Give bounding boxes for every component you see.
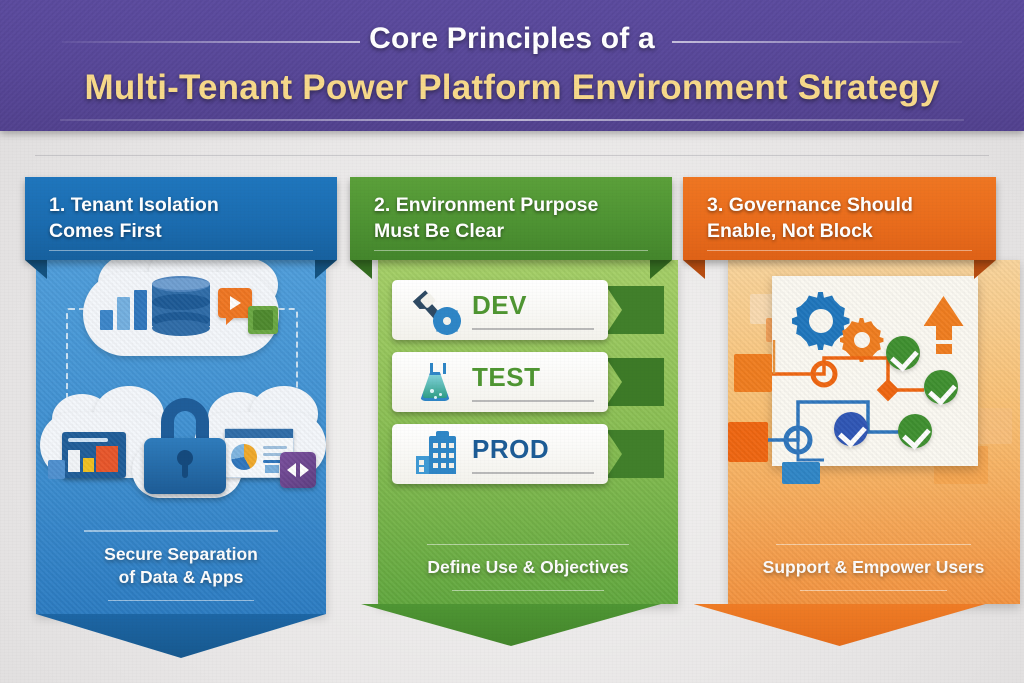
flask-shape bbox=[420, 363, 450, 401]
window-titlebar bbox=[68, 438, 108, 442]
panel-2-heading-line2: Must Be Clear bbox=[374, 220, 504, 242]
window-panel bbox=[96, 446, 118, 472]
panel-1-banner-tail bbox=[36, 614, 326, 658]
green-app-tile-icon bbox=[248, 306, 278, 334]
dashboard-line bbox=[263, 446, 287, 449]
panel-1-number: 1. bbox=[49, 194, 65, 216]
panel-1-caption: Secure Separation of Data & Apps bbox=[50, 530, 312, 601]
building-window bbox=[441, 443, 446, 448]
blue-check-icon bbox=[834, 412, 868, 446]
ribbon-tab-icon bbox=[606, 430, 664, 478]
panel-2-header-rule bbox=[374, 250, 648, 252]
title-line-1-text: Core Principles of a bbox=[353, 22, 671, 56]
pie-chart-icon bbox=[231, 444, 257, 470]
panel-3-header: 3. Governance Should Enable, Not Block bbox=[683, 177, 996, 260]
panel-1-caption-line2: of Data & Apps bbox=[119, 567, 244, 587]
panel-2-fold-left bbox=[350, 260, 372, 279]
panel-1-header: 1. Tenant Isolation Comes First bbox=[25, 177, 337, 260]
flask-bubble bbox=[439, 393, 442, 396]
panel-2-caption-rule-top bbox=[427, 544, 628, 546]
building-window bbox=[419, 460, 424, 465]
app-window-icon bbox=[62, 432, 126, 478]
bar-chart-bar bbox=[134, 290, 147, 330]
green-app-inner bbox=[253, 310, 273, 330]
panel-3-heading: 3. Governance Should Enable, Not Block bbox=[707, 193, 982, 245]
title-line-2: Multi-Tenant Power Platform Environment … bbox=[0, 68, 1024, 108]
window-panel bbox=[68, 450, 80, 472]
panel-3-caption: Support & Empower Users bbox=[742, 544, 1006, 591]
panel-1-caption-rule-bottom bbox=[108, 600, 255, 602]
flask-bubble bbox=[430, 389, 434, 393]
ribbon-tab-icon bbox=[606, 286, 664, 334]
database-highlight bbox=[152, 278, 210, 290]
panel-2-body: DEV bbox=[378, 260, 678, 604]
environment-label-test: TEST bbox=[472, 362, 540, 393]
environment-row-test: TEST bbox=[392, 352, 664, 412]
flask-icon bbox=[412, 360, 458, 404]
building-window bbox=[441, 463, 446, 468]
flowchart-connectors bbox=[728, 270, 1020, 502]
principle-panel-1: 1. Tenant Isolation Comes First bbox=[25, 177, 337, 658]
green-check-icon bbox=[898, 414, 932, 448]
ribbon-tab-icon bbox=[606, 358, 664, 406]
bar-chart-bar bbox=[117, 297, 130, 330]
flask-body bbox=[420, 372, 450, 401]
panel-2-caption-line1: Define Use & Objectives bbox=[427, 557, 628, 577]
video-play-icon bbox=[218, 288, 252, 318]
panel-3-fold-left bbox=[683, 260, 705, 279]
panel-3-body: Support & Empower Users bbox=[728, 260, 1020, 604]
environment-row-prod: PROD bbox=[392, 424, 664, 484]
panel-1-heading: 1. Tenant Isolation Comes First bbox=[49, 193, 323, 245]
building-window bbox=[433, 453, 438, 458]
panel-1-heading-line2: Comes First bbox=[49, 220, 162, 242]
infographic-canvas: Core Principles of a Multi-Tenant Power … bbox=[0, 0, 1024, 683]
panel-2-caption-rule-bottom bbox=[452, 590, 604, 592]
environment-card-dev[interactable]: DEV bbox=[392, 280, 608, 340]
small-app-tile-icon bbox=[48, 460, 65, 479]
building-window bbox=[449, 463, 454, 468]
building-icon bbox=[412, 432, 458, 476]
environment-label-dev: DEV bbox=[472, 290, 527, 321]
environment-card-prod[interactable]: PROD bbox=[392, 424, 608, 484]
title-line-1: Core Principles of a bbox=[0, 22, 1024, 56]
padlock-keyhole bbox=[177, 450, 193, 466]
building-window bbox=[419, 467, 424, 472]
building-tower bbox=[429, 436, 456, 474]
wrench-gear-icon bbox=[412, 288, 458, 332]
dashboard-titlebar bbox=[225, 429, 293, 438]
panel-3-caption-rule-top bbox=[776, 544, 971, 546]
panel-1-heading-line1: Tenant Isolation bbox=[71, 194, 219, 216]
building-window bbox=[441, 453, 446, 458]
panel-2-header: 2. Environment Purpose Must Be Clear bbox=[350, 177, 672, 260]
purple-app-icon bbox=[280, 452, 316, 488]
environment-label-prod: PROD bbox=[472, 434, 549, 465]
panel-1-caption-rule-top bbox=[84, 530, 278, 532]
building-shape bbox=[416, 436, 456, 474]
dashboard-block bbox=[265, 465, 279, 473]
cloud-isolation-illustration bbox=[36, 266, 326, 496]
panel-2-number: 2. bbox=[374, 194, 390, 216]
panel-3-heading-line1: Governance Should bbox=[729, 194, 913, 216]
database-ring bbox=[152, 294, 210, 310]
panel-1-fold-right bbox=[315, 260, 337, 279]
panel-3-caption-line1: Support & Empower Users bbox=[763, 557, 985, 577]
padlock-icon bbox=[144, 398, 226, 494]
principle-panel-2: 2. Environment Purpose Must Be Clear bbox=[350, 177, 672, 646]
environment-cards-illustration: DEV bbox=[378, 276, 678, 506]
environment-card-underline bbox=[472, 400, 594, 402]
building-window bbox=[449, 443, 454, 448]
flask-bubble bbox=[434, 396, 437, 399]
building-window bbox=[433, 443, 438, 448]
green-check-icon bbox=[886, 336, 920, 370]
bar-chart-bar bbox=[100, 310, 113, 330]
governance-flow-illustration bbox=[728, 270, 1020, 502]
speech-bubble-tail-icon bbox=[226, 316, 236, 325]
panel-2-heading: 2. Environment Purpose Must Be Clear bbox=[374, 193, 658, 245]
panel-1-header-rule bbox=[49, 250, 313, 252]
environment-card-underline bbox=[472, 472, 594, 474]
panel-1-body: Secure Separation of Data & Apps bbox=[36, 260, 326, 614]
gear-hub bbox=[436, 310, 458, 332]
building-window bbox=[433, 463, 438, 468]
environment-row-dev: DEV bbox=[392, 280, 664, 340]
panel-3-number: 3. bbox=[707, 194, 723, 216]
panel-3-caption-rule-bottom bbox=[800, 590, 948, 592]
title-banner: Core Principles of a Multi-Tenant Power … bbox=[0, 0, 1024, 131]
title-rule-bottom bbox=[60, 119, 964, 121]
padlock-body bbox=[144, 438, 226, 494]
database-icon bbox=[152, 276, 210, 334]
content-divider bbox=[35, 155, 989, 156]
panel-2-caption: Define Use & Objectives bbox=[392, 544, 664, 591]
database-bottom bbox=[152, 320, 210, 336]
building-window bbox=[449, 453, 454, 458]
environment-card-test[interactable]: TEST bbox=[392, 352, 608, 412]
panel-2-banner-tail bbox=[361, 604, 661, 646]
panel-3-header-rule bbox=[707, 250, 972, 252]
environment-card-underline bbox=[472, 328, 594, 330]
window-panel bbox=[83, 458, 94, 472]
principle-panel-3: 3. Governance Should Enable, Not Block bbox=[683, 177, 996, 646]
panel-1-caption-line1: Secure Separation bbox=[104, 544, 258, 564]
panel-3-banner-tail bbox=[694, 604, 986, 646]
green-check-icon bbox=[924, 370, 958, 404]
bar-chart-icon bbox=[100, 290, 148, 330]
panel-3-heading-line2: Enable, Not Block bbox=[707, 220, 873, 242]
panel-2-heading-line1: Environment Purpose bbox=[396, 194, 599, 216]
